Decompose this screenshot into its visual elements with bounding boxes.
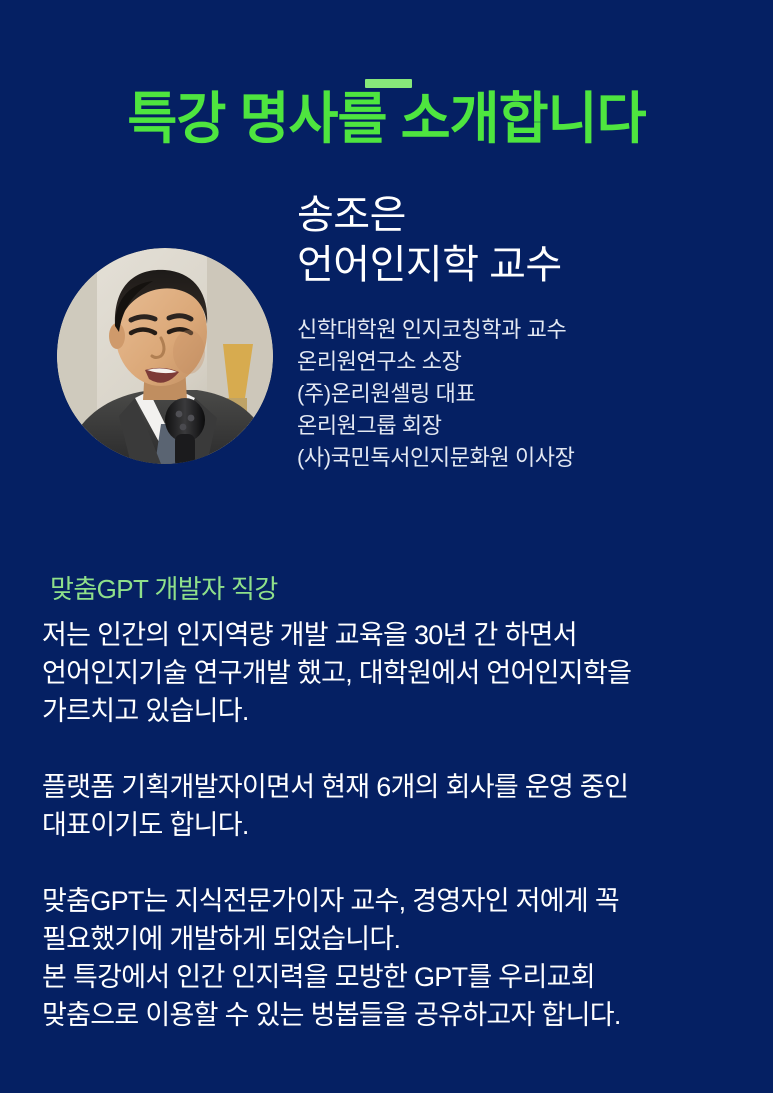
- speaker-credentials-list: 신학대학원 인지코칭학과 교수 온리원연구소 소장 (주)온리원셀링 대표 온리…: [297, 314, 767, 474]
- credential-item: 온리원그룹 회장: [297, 410, 767, 442]
- paragraph-line: 맞춤으로 이용할 수 있는 벙봅들을 공유하고자 합니다.: [42, 996, 742, 1034]
- portrait-illustration: [57, 248, 273, 464]
- credential-item: 온리원연구소 소장: [297, 346, 767, 378]
- page-title: 특강 명사를 소개합니다: [12, 88, 762, 150]
- description-paragraph: 맞춤GPT는 지식전문가이자 교수, 경영자인 저에게 꼭 필요했기에 개발하게…: [42, 882, 742, 1034]
- paragraph-line: 저는 인간의 인지역량 개발 교육을 30년 간 하면서: [42, 616, 742, 654]
- paragraph-line: 본 특강에서 인간 인지력을 모방한 GPT를 우리교회: [42, 958, 742, 996]
- paragraph-line: 플랫폼 기획개발자이면서 현재 6개의 회사를 운영 중인: [42, 768, 742, 806]
- description-paragraph: 플랫폼 기획개발자이면서 현재 6개의 회사를 운영 중인 대표이기도 합니다.: [42, 768, 742, 844]
- description-section: 맞춤GPT 개발자 직강 저는 인간의 인지역량 개발 교육을 30년 간 하면…: [42, 572, 742, 1034]
- credential-item: (주)온리원셀링 대표: [297, 378, 767, 410]
- speaker-details: 송조은 언어인지학 교수 신학대학원 인지코칭학과 교수 온리원연구소 소장 (…: [297, 190, 767, 474]
- description-paragraph: 저는 인간의 인지역량 개발 교육을 30년 간 하면서 언어인지기술 연구개발…: [42, 616, 742, 730]
- poster-canvas: 특강 명사를 소개합니다: [0, 0, 773, 1093]
- paragraph-line: 필요했기에 개발하게 되었습니다.: [42, 920, 742, 958]
- paragraph-line: 언어인지기술 연구개발 했고, 대학원에서 언어인지학을: [42, 654, 742, 692]
- speaker-role: 언어인지학 교수: [297, 240, 767, 290]
- credential-item: 신학대학원 인지코칭학과 교수: [297, 314, 767, 346]
- paragraph-line: 대표이기도 합니다.: [42, 806, 742, 844]
- section-heading: 맞춤GPT 개발자 직강: [42, 572, 742, 606]
- speaker-section: 송조은 언어인지학 교수 신학대학원 인지코칭학과 교수 온리원연구소 소장 (…: [0, 190, 773, 510]
- paragraph-line: 가르치고 있습니다.: [42, 692, 742, 730]
- paragraph-line: 맞춤GPT는 지식전문가이자 교수, 경영자인 저에게 꼭: [42, 882, 742, 920]
- speaker-name: 송조은: [297, 190, 767, 240]
- credential-item: (사)국민독서인지문화원 이사장: [297, 442, 767, 474]
- speaker-portrait-photo: [57, 248, 273, 464]
